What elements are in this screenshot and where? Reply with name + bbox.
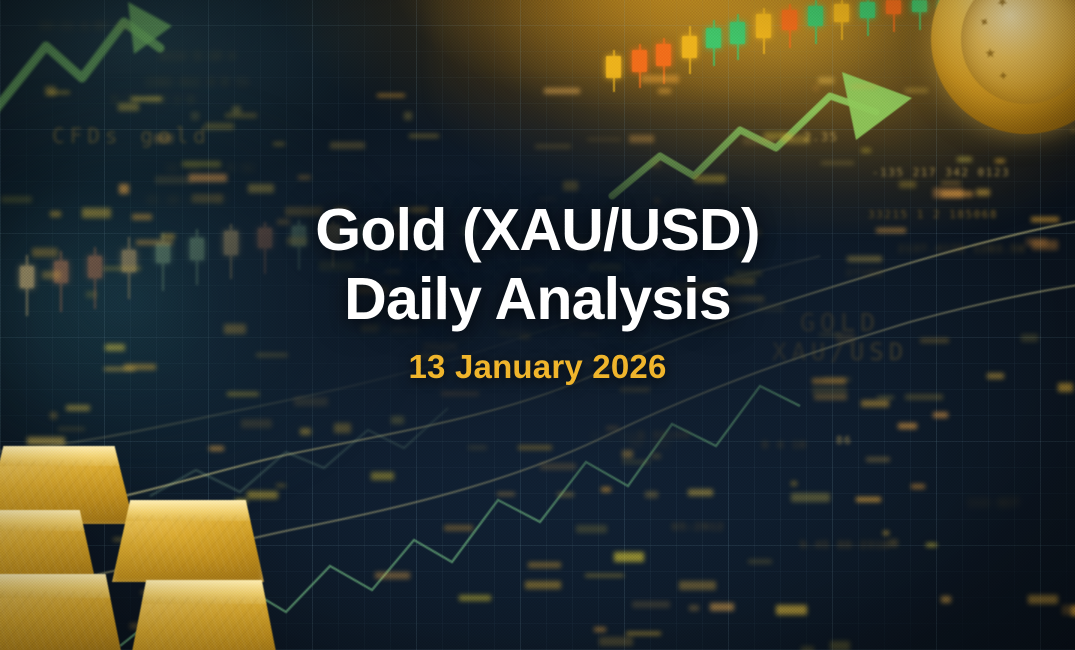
title-block: Gold (XAU/USD) Daily Analysis 13 January… (0, 196, 1075, 386)
page-title: Gold (XAU/USD) Daily Analysis (0, 196, 1075, 334)
publication-date: 13 January 2026 (0, 348, 1075, 386)
banner-root: -135 217 342 012333215 1 2 1850682137.41… (0, 0, 1075, 650)
title-line-2: Daily Analysis (0, 265, 1075, 334)
title-line-1: Gold (XAU/USD) (315, 197, 759, 263)
